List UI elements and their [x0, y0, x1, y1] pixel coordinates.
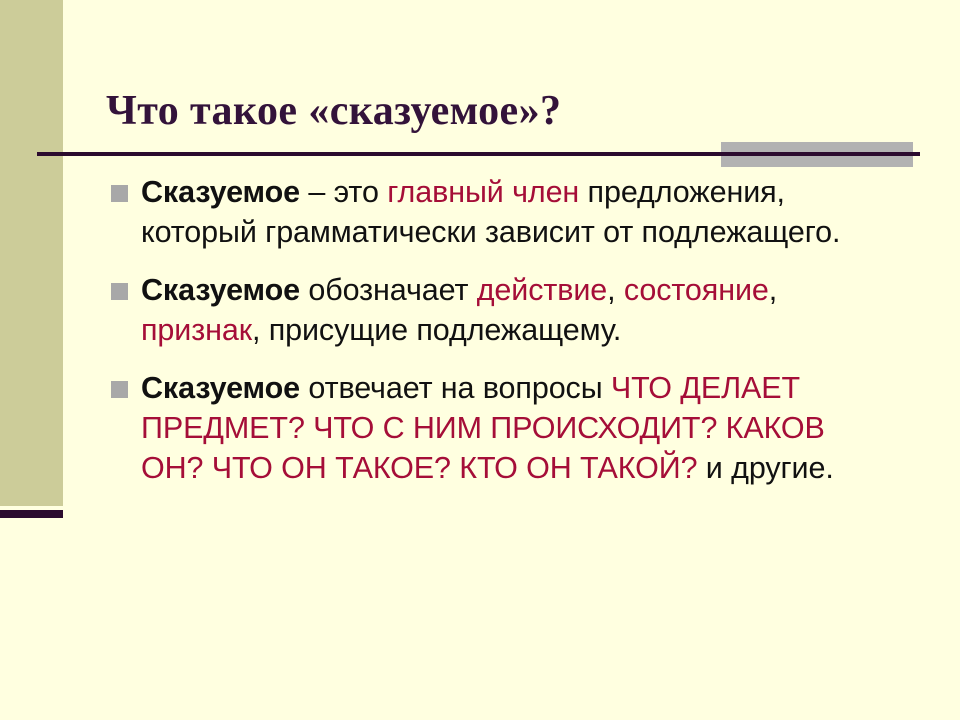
bullet-segment-accent: действие — [477, 273, 607, 307]
slide-title: Что такое «сказуемое»? — [106, 86, 926, 136]
list-item: Сказуемое обозначает действие, состояние… — [104, 270, 894, 350]
bullet-segment-accent: главный член — [387, 175, 579, 209]
bullet-text: Сказуемое обозначает действие, состояние… — [141, 270, 894, 350]
title-divider-rule — [37, 152, 920, 156]
square-bullet-icon — [111, 381, 128, 398]
bullet-segment-plain: , присущие подлежащему. — [252, 313, 621, 347]
bullet-segment-accent: состояние — [624, 273, 769, 307]
bullet-segment-plain: , — [607, 273, 624, 307]
list-item: Сказуемое отвечает на вопросы ЧТО ДЕЛАЕТ… — [104, 368, 894, 488]
slide-canvas: Что такое «сказуемое»? Сказуемое – это г… — [0, 0, 960, 720]
bullet-segment-bold: Сказуемое — [141, 273, 300, 307]
bullet-text: Сказуемое – это главный член предложения… — [141, 172, 894, 252]
bullet-segment-plain: , — [769, 273, 777, 307]
bullet-list: Сказуемое – это главный член предложения… — [104, 172, 894, 488]
bullet-text: Сказуемое отвечает на вопросы ЧТО ДЕЛАЕТ… — [141, 368, 894, 488]
decorative-accent-bar — [0, 510, 63, 518]
bullet-segment-plain: обозначает — [300, 273, 477, 307]
bullet-segment-plain: и другие. — [697, 451, 833, 485]
bullet-segment-bold: Сказуемое — [141, 371, 300, 405]
bullet-segment-accent: признак — [141, 313, 252, 347]
bullet-segment-plain: – это — [300, 175, 387, 209]
bullet-segment-bold: Сказуемое — [141, 175, 300, 209]
square-bullet-icon — [111, 185, 128, 202]
list-item: Сказуемое – это главный член предложения… — [104, 172, 894, 252]
bullet-segment-plain: отвечает на вопросы — [300, 371, 611, 405]
square-bullet-icon — [111, 283, 128, 300]
decorative-sidebar-band — [0, 0, 63, 506]
